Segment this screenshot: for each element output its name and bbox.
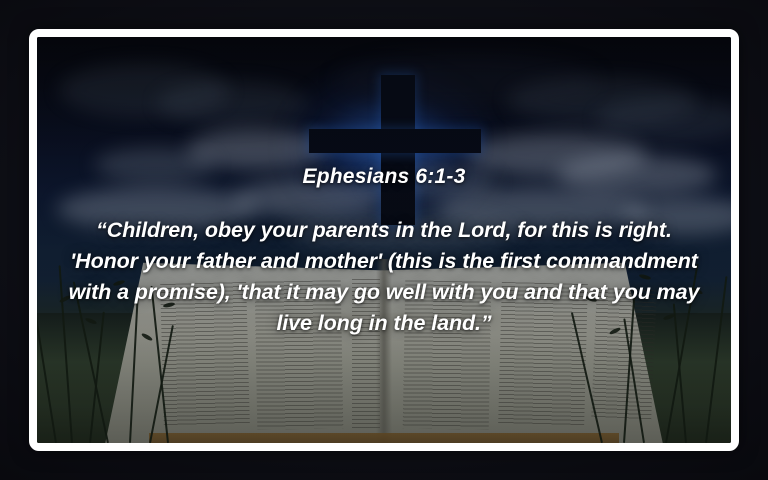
white-photo-frame: Ephesians 6:1-3 “Children, obey your par… [29,29,739,451]
verse-text-block: Ephesians 6:1-3 “Children, obey your par… [37,165,731,339]
bible-page-edge [149,433,619,443]
cross-horizontal-beam [309,129,481,153]
scripture-verse: “Children, obey your parents in the Lord… [64,215,704,339]
scripture-reference: Ephesians 6:1-3 [63,165,705,189]
quote-card: Ephesians 6:1-3 “Children, obey your par… [0,0,768,480]
